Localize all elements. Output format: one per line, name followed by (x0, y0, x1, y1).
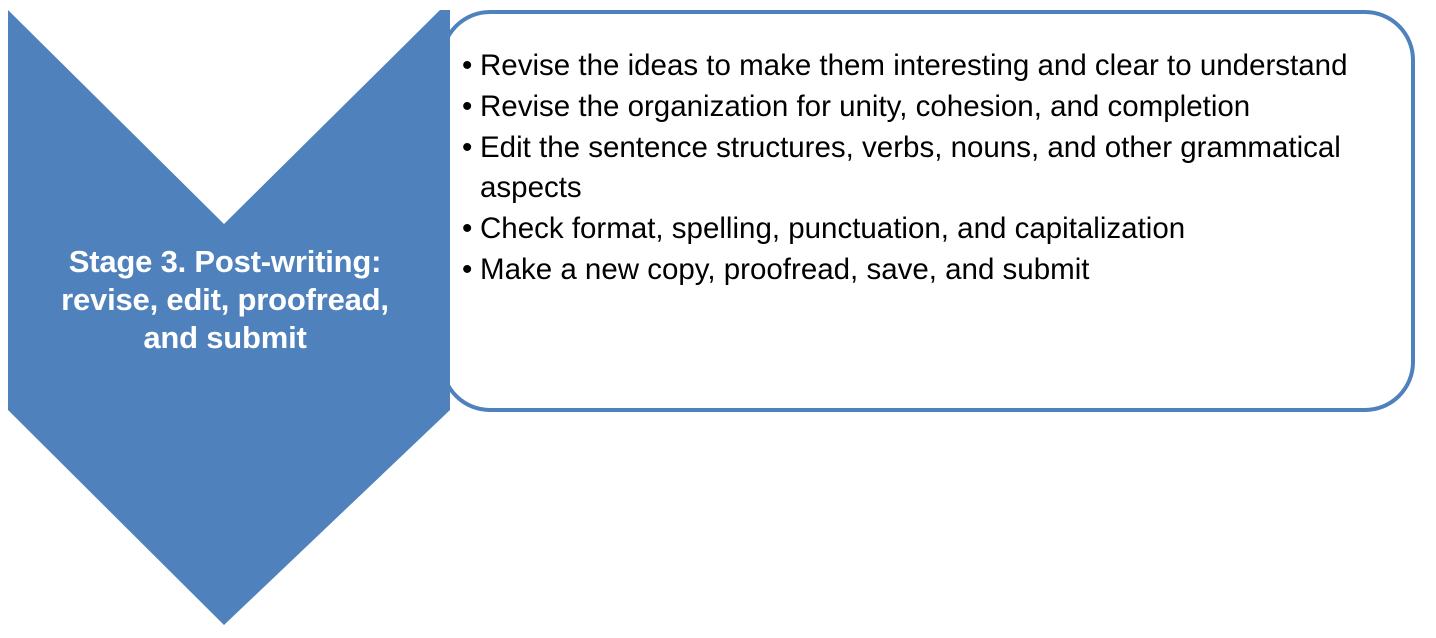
stage-title: Stage 3. Post-writing: revise, edit, pro… (6, 243, 444, 357)
bullet-marker-icon: • (462, 209, 472, 249)
stage-title-line-2: revise, edit, proofread, (6, 281, 444, 319)
stage-title-line-1: Stage 3. Post-writing: (6, 243, 444, 281)
list-item-label: Make a new copy, proofread, save, and su… (480, 250, 1408, 290)
list-item: • Revise the organization for unity, coh… (458, 87, 1408, 127)
list-item-label: Check format, spelling, punctuation, and… (480, 209, 1408, 249)
stage-diagram: Stage 3. Post-writing: revise, edit, pro… (0, 0, 1436, 638)
list-item: • Edit the sentence structures, verbs, n… (458, 128, 1408, 208)
list-item: • Check format, spelling, punctuation, a… (458, 209, 1408, 249)
bullet-marker-icon: • (462, 128, 472, 168)
stage-activity-list: • Revise the ideas to make them interest… (458, 46, 1408, 291)
bullet-marker-icon: • (462, 46, 472, 86)
bullet-marker-icon: • (462, 250, 472, 290)
list-item: • Revise the ideas to make them interest… (458, 46, 1408, 86)
list-item-label: Revise the organization for unity, cohes… (480, 87, 1408, 127)
list-item-label: Revise the ideas to make them interestin… (480, 46, 1360, 86)
bullet-marker-icon: • (462, 87, 472, 127)
stage-title-line-3: and submit (6, 319, 444, 357)
list-item-label: Edit the sentence structures, verbs, nou… (480, 128, 1360, 208)
list-item: • Make a new copy, proofread, save, and … (458, 250, 1408, 290)
